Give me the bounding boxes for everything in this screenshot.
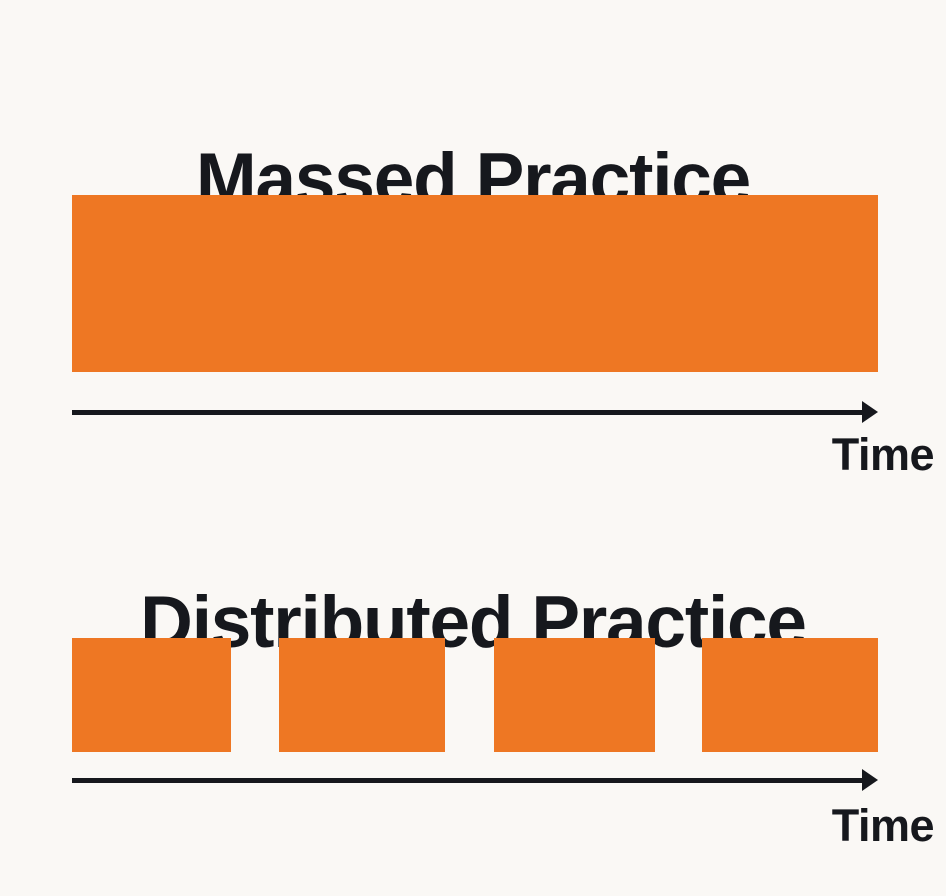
practice-comparison-diagram: Massed Practice Time Distributed Practic… (0, 0, 946, 896)
axis-label-time-massed: Time (832, 432, 934, 477)
panel-massed-practice: Massed Practice Time (0, 0, 946, 490)
panel-distributed-practice: Distributed Practice Time (0, 490, 946, 896)
time-axis-distributed (72, 768, 878, 792)
arrow-right-icon (862, 769, 878, 791)
practice-block (279, 638, 445, 752)
axis-label-time-distributed: Time (832, 803, 934, 848)
practice-block (494, 638, 655, 752)
practice-block (702, 638, 878, 752)
practice-block (72, 638, 231, 752)
practice-block (72, 195, 878, 372)
bar-track-massed (72, 195, 878, 372)
time-axis-massed (72, 400, 878, 424)
axis-line (72, 778, 865, 783)
axis-line (72, 410, 865, 415)
bar-track-distributed (72, 638, 878, 752)
arrow-right-icon (862, 401, 878, 423)
